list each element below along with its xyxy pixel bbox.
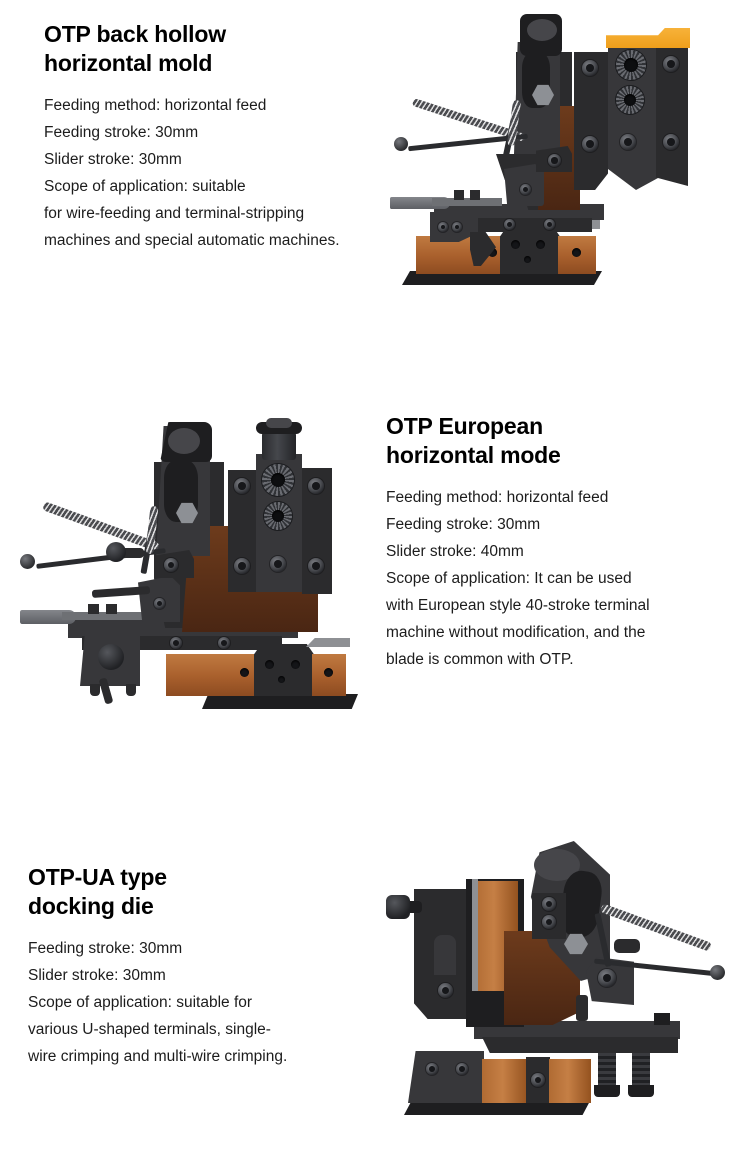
adjustment-dial-lower xyxy=(264,502,292,530)
copper-bar-hole xyxy=(572,248,581,257)
spec-line: Slider stroke: 40mm xyxy=(386,538,736,565)
support-post xyxy=(598,1053,616,1087)
die-bolt xyxy=(270,556,286,572)
die-bolt xyxy=(663,134,679,150)
die-hole xyxy=(524,256,531,263)
side-adjust-knob xyxy=(386,895,410,919)
product-image-otp-back-hollow-horizontal-mold xyxy=(386,8,716,308)
die-bolt xyxy=(620,134,636,150)
spec-line: with European style 40-stroke terminal xyxy=(386,592,736,619)
base-plate xyxy=(404,1101,590,1115)
product-section-otp-european-horizontal-mode: OTP European horizontal mode Feeding met… xyxy=(0,380,750,780)
product-image-otp-european-horizontal-mode xyxy=(6,406,356,726)
divider-bolt xyxy=(531,1073,545,1087)
product-title-1: OTP back hollow horizontal mold xyxy=(44,20,374,78)
product-title-2: OTP European horizontal mode xyxy=(386,412,736,470)
base-bolt xyxy=(426,1063,438,1075)
product-image-otp-ua-type-docking-die xyxy=(386,835,732,1135)
product-specs-2: Feeding method: horizontal feed Feeding … xyxy=(386,484,736,673)
spec-line: wire crimping and multi-wire crimping. xyxy=(28,1043,358,1070)
lever-ball-tip xyxy=(20,554,35,569)
side-plate-bolt xyxy=(438,983,453,998)
die-hole xyxy=(278,676,285,683)
side-knob xyxy=(106,542,126,562)
spec-line: Feeding method: horizontal feed xyxy=(386,484,736,511)
lever-cyl-boss xyxy=(614,939,640,953)
spec-line: Scope of application: It can be used xyxy=(386,565,736,592)
post-foot xyxy=(594,1085,620,1097)
rail-end-stud xyxy=(654,1013,670,1025)
die-hole xyxy=(511,240,520,249)
paddle-stud xyxy=(470,190,480,200)
ram-top-disc xyxy=(527,19,557,41)
center-die-block xyxy=(254,644,314,696)
spec-line: for wire-feeding and terminal-stripping xyxy=(44,200,374,227)
product-text-block-2: OTP European horizontal mode Feeding met… xyxy=(386,412,736,673)
clamp-bolt xyxy=(438,222,448,232)
rail-bolt xyxy=(170,637,182,649)
die-bolt xyxy=(308,558,324,574)
bracket-bolt xyxy=(520,184,531,195)
side-plate-lug xyxy=(434,935,456,975)
orange-top-plate xyxy=(606,28,690,48)
die-hole xyxy=(265,660,274,669)
adjustment-dial-upper xyxy=(616,50,646,80)
copper-block-left xyxy=(482,1059,528,1103)
spec-line: Feeding method: horizontal feed xyxy=(44,92,374,119)
rail-bolt xyxy=(544,219,555,230)
die-bolt xyxy=(582,136,598,152)
spec-line: Scope of application: suitable xyxy=(44,173,374,200)
lever-ball-tip xyxy=(710,965,725,980)
paddle-stud xyxy=(454,190,464,200)
bracket-bolt xyxy=(154,598,165,609)
copper-bar-hole xyxy=(324,668,333,677)
die-bolt xyxy=(234,478,250,494)
spec-line: Feeding stroke: 30mm xyxy=(28,935,358,962)
product-title-3: OTP-UA type docking die xyxy=(28,863,358,921)
anvil-cap xyxy=(306,638,350,647)
slide-rail-lower xyxy=(482,1037,678,1053)
spec-line: machine without modification, and the xyxy=(386,619,736,646)
base-bolt xyxy=(456,1063,468,1075)
copper-plate-edge xyxy=(472,879,478,991)
top-shaft-knob xyxy=(266,418,292,428)
upper-clamp-bolt xyxy=(164,558,178,572)
product-section-otp-back-hollow-horizontal-mold: OTP back hollow horizontal mold Feeding … xyxy=(0,0,750,370)
die-bolt xyxy=(308,478,324,494)
feed-foot xyxy=(126,684,136,696)
die-hole xyxy=(291,660,300,669)
spec-line: Scope of application: suitable for xyxy=(28,989,358,1016)
bracket-stud xyxy=(576,995,588,1021)
die-hole xyxy=(536,240,545,249)
spec-line: Slider stroke: 30mm xyxy=(44,146,374,173)
tension-spring xyxy=(42,501,160,551)
copper-bar-hole xyxy=(240,668,249,677)
base-left-block xyxy=(408,1051,484,1103)
ram-bolt xyxy=(542,897,556,911)
support-post xyxy=(632,1053,650,1087)
upper-clamp-bolt xyxy=(548,154,561,167)
center-die-block xyxy=(500,226,560,274)
product-specs-1: Feeding method: horizontal feed Feeding … xyxy=(44,92,374,254)
product-section-otp-ua-type-docking-die: OTP-UA type docking die Feeding stroke: … xyxy=(0,845,750,1160)
rail-bolt xyxy=(504,219,515,230)
ram-bolt xyxy=(542,915,556,929)
die-bolt xyxy=(582,60,598,76)
spec-line: Feeding stroke: 30mm xyxy=(44,119,374,146)
post-foot xyxy=(628,1085,654,1097)
copper-block-right xyxy=(549,1059,591,1103)
adjustment-dial-upper xyxy=(262,464,294,496)
product-text-block-1: OTP back hollow horizontal mold Feeding … xyxy=(44,20,374,254)
feed-foot xyxy=(90,684,100,696)
die-bolt xyxy=(234,558,250,574)
spec-line: Feeding stroke: 30mm xyxy=(386,511,736,538)
spec-line: blade is common with OTP. xyxy=(386,646,736,673)
spec-line: machines and special automatic machines. xyxy=(44,227,374,254)
paddle-stud xyxy=(88,604,99,614)
adjustment-dial-lower xyxy=(616,86,644,114)
top-shaft-housing xyxy=(262,432,296,460)
lever-ball-tip xyxy=(394,137,408,151)
bracket-bolt xyxy=(598,969,616,987)
spec-line: various U-shaped terminals, single- xyxy=(28,1016,358,1043)
spec-line: Slider stroke: 30mm xyxy=(28,962,358,989)
ram-top-disc xyxy=(168,428,200,454)
clamp-bolt xyxy=(452,222,462,232)
product-specs-3: Feeding stroke: 30mm Slider stroke: 30mm… xyxy=(28,935,358,1070)
paddle-stud xyxy=(106,604,117,614)
product-text-block-3: OTP-UA type docking die Feeding stroke: … xyxy=(28,863,358,1070)
base-plate xyxy=(202,694,358,709)
paddle-arm xyxy=(432,198,502,206)
die-bolt xyxy=(663,56,679,72)
feed-adjust-knob xyxy=(98,644,124,670)
rail-bolt xyxy=(218,637,230,649)
